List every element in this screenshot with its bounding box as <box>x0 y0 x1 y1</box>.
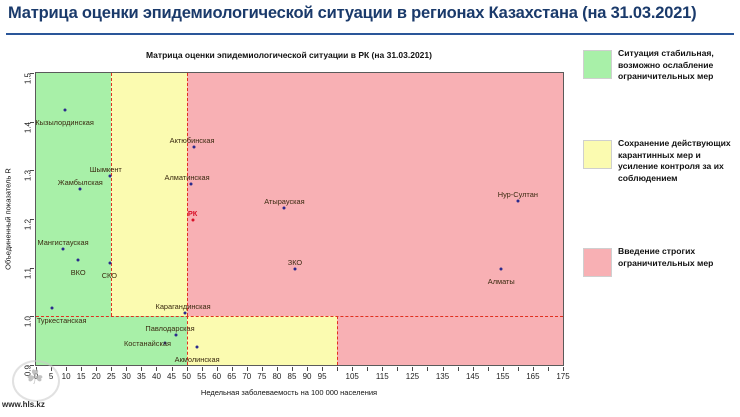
legend-item-label: Введение строгих ограничительных мер <box>618 246 738 269</box>
data-point <box>196 346 199 349</box>
x-tick <box>397 367 398 371</box>
data-point <box>516 199 519 202</box>
legend-color-swatch <box>583 140 612 169</box>
page-title: Матрица оценки эпидемиологической ситуац… <box>8 4 696 23</box>
data-point <box>293 267 296 270</box>
x-tick <box>563 367 564 371</box>
tree-icon: ☘ <box>26 368 44 388</box>
data-point <box>175 333 178 336</box>
x-tick <box>382 367 383 371</box>
chart-panel: Матрица оценки эпидемиологической ситуац… <box>0 38 578 417</box>
data-point-label: Костанайская <box>124 339 171 348</box>
chart-title: Матрица оценки эпидемиологической ситуац… <box>0 50 578 60</box>
page-header: Матрица оценки эпидемиологической ситуац… <box>0 0 740 38</box>
x-tick <box>427 367 428 371</box>
data-point-label: ЗКО <box>288 258 302 267</box>
x-tick <box>367 367 368 371</box>
data-point <box>62 248 65 251</box>
data-point-label: Шымкент <box>90 165 122 174</box>
legend-color-swatch <box>583 50 612 79</box>
data-point-label: Акмолинская <box>175 355 220 364</box>
plot-area: КызылординскаяЖамбылскаяШымкентМангистау… <box>35 72 564 366</box>
header-divider <box>6 33 734 35</box>
x-tick-label: 85 <box>288 372 297 381</box>
y-tick-label: 1.0 <box>24 316 33 327</box>
x-tick <box>141 367 142 371</box>
x-tick-label: 135 <box>436 372 449 381</box>
data-point <box>50 307 53 310</box>
data-point-label: ВКО <box>71 268 86 277</box>
data-point <box>109 261 112 264</box>
data-point <box>500 267 503 270</box>
zone-pink-lower <box>337 316 563 365</box>
x-tick <box>458 367 459 371</box>
x-tick <box>292 367 293 371</box>
data-point <box>193 145 196 148</box>
y-tick-label: 1.3 <box>24 170 33 181</box>
data-point <box>63 109 66 112</box>
y-tick-label: 1.5 <box>24 73 33 84</box>
legend-item-label: Ситуация стабильная, возможно ослабление… <box>618 48 738 83</box>
x-tick <box>126 367 127 371</box>
x-tick <box>548 367 549 371</box>
data-point <box>184 312 187 315</box>
x-tick <box>503 367 504 371</box>
x-tick <box>473 367 474 371</box>
x-tick <box>277 367 278 371</box>
x-tick <box>533 367 534 371</box>
x-tick <box>352 367 353 371</box>
data-point <box>191 218 194 221</box>
x-tick <box>247 367 248 371</box>
x-tick-label: 35 <box>137 372 146 381</box>
zone-yellow-upper <box>111 73 186 316</box>
data-point-label: Мангистауская <box>38 238 89 247</box>
x-tick-label: 25 <box>107 372 116 381</box>
x-tick-label: 75 <box>257 372 266 381</box>
x-tick-label: 95 <box>318 372 327 381</box>
x-tick-label: 65 <box>227 372 236 381</box>
threshold-vline-upper-green <box>111 73 112 316</box>
data-point-label: Павлодарская <box>145 324 194 333</box>
legend-color-swatch <box>583 248 612 277</box>
x-tick-label: 155 <box>496 372 509 381</box>
x-tick-label: 165 <box>526 372 539 381</box>
data-point <box>283 207 286 210</box>
x-tick <box>337 367 338 371</box>
x-tick <box>111 367 112 371</box>
data-point <box>79 187 82 190</box>
data-point-label: Карагандинская <box>156 302 211 311</box>
x-tick <box>172 367 173 371</box>
x-tick <box>232 367 233 371</box>
data-point-label: Туркестанская <box>37 316 87 325</box>
x-tick <box>262 367 263 371</box>
x-tick-label: 20 <box>92 372 101 381</box>
y-axis-title-label: Объединенный показатель R <box>4 168 13 270</box>
data-point <box>108 175 111 178</box>
data-point-label: Алматы <box>488 277 515 286</box>
x-tick-label: 30 <box>122 372 131 381</box>
y-axis-title: Объединенный показатель R <box>2 72 14 366</box>
watermark: ☘ www.hls.kz <box>2 360 68 416</box>
data-point-label: РК <box>188 209 197 218</box>
x-tick-label: 125 <box>406 372 419 381</box>
x-tick-label: 80 <box>272 372 281 381</box>
data-point-label: Жамбылская <box>58 178 103 187</box>
x-tick-label: 45 <box>167 372 176 381</box>
x-tick-label: 70 <box>242 372 251 381</box>
data-point-label: Кызылординская <box>35 118 94 127</box>
x-tick-label: 55 <box>197 372 206 381</box>
legend-item-label: Сохранение действующих карантинных мер и… <box>618 138 738 184</box>
threshold-hline-r1 <box>36 316 563 317</box>
x-tick-label: 90 <box>303 372 312 381</box>
y-tick-label: 1.1 <box>24 268 33 279</box>
data-point-label: СКО <box>102 271 117 280</box>
x-tick <box>217 367 218 371</box>
y-tick-label: 1.4 <box>24 122 33 133</box>
x-tick <box>322 367 323 371</box>
x-tick <box>412 367 413 371</box>
x-tick-label: 50 <box>182 372 191 381</box>
x-tick <box>187 367 188 371</box>
x-tick <box>443 367 444 371</box>
y-tick-label: 1.2 <box>24 219 33 230</box>
x-tick <box>202 367 203 371</box>
data-point-label: Нур-Султан <box>498 190 538 199</box>
data-point <box>190 182 193 185</box>
site-url: www.hls.kz <box>2 400 45 409</box>
x-tick-label: 115 <box>376 372 389 381</box>
x-tick <box>156 367 157 371</box>
x-tick <box>81 367 82 371</box>
x-tick-label: 175 <box>556 372 569 381</box>
x-axis-title: Недельная заболеваемость на 100 000 насе… <box>0 388 578 397</box>
threshold-vline-upper-yellow <box>187 73 188 316</box>
data-point-label: Алматинская <box>165 173 210 182</box>
data-point <box>77 259 80 262</box>
x-tick-label: 60 <box>212 372 221 381</box>
threshold-vline-lower-yellow <box>337 316 338 365</box>
bottom-spacer <box>0 413 740 417</box>
x-tick-label: 15 <box>77 372 86 381</box>
x-tick-label: 145 <box>466 372 479 381</box>
x-tick-label: 105 <box>346 372 359 381</box>
x-tick <box>96 367 97 371</box>
x-tick-label: 40 <box>152 372 161 381</box>
x-tick <box>307 367 308 371</box>
data-point-label: Атырауская <box>264 197 304 206</box>
x-tick <box>488 367 489 371</box>
legend: Ситуация стабильная, возможно ослабление… <box>578 38 740 417</box>
data-point-label: Актюбинская <box>170 136 215 145</box>
zone-green-upper <box>36 73 111 316</box>
x-tick <box>518 367 519 371</box>
